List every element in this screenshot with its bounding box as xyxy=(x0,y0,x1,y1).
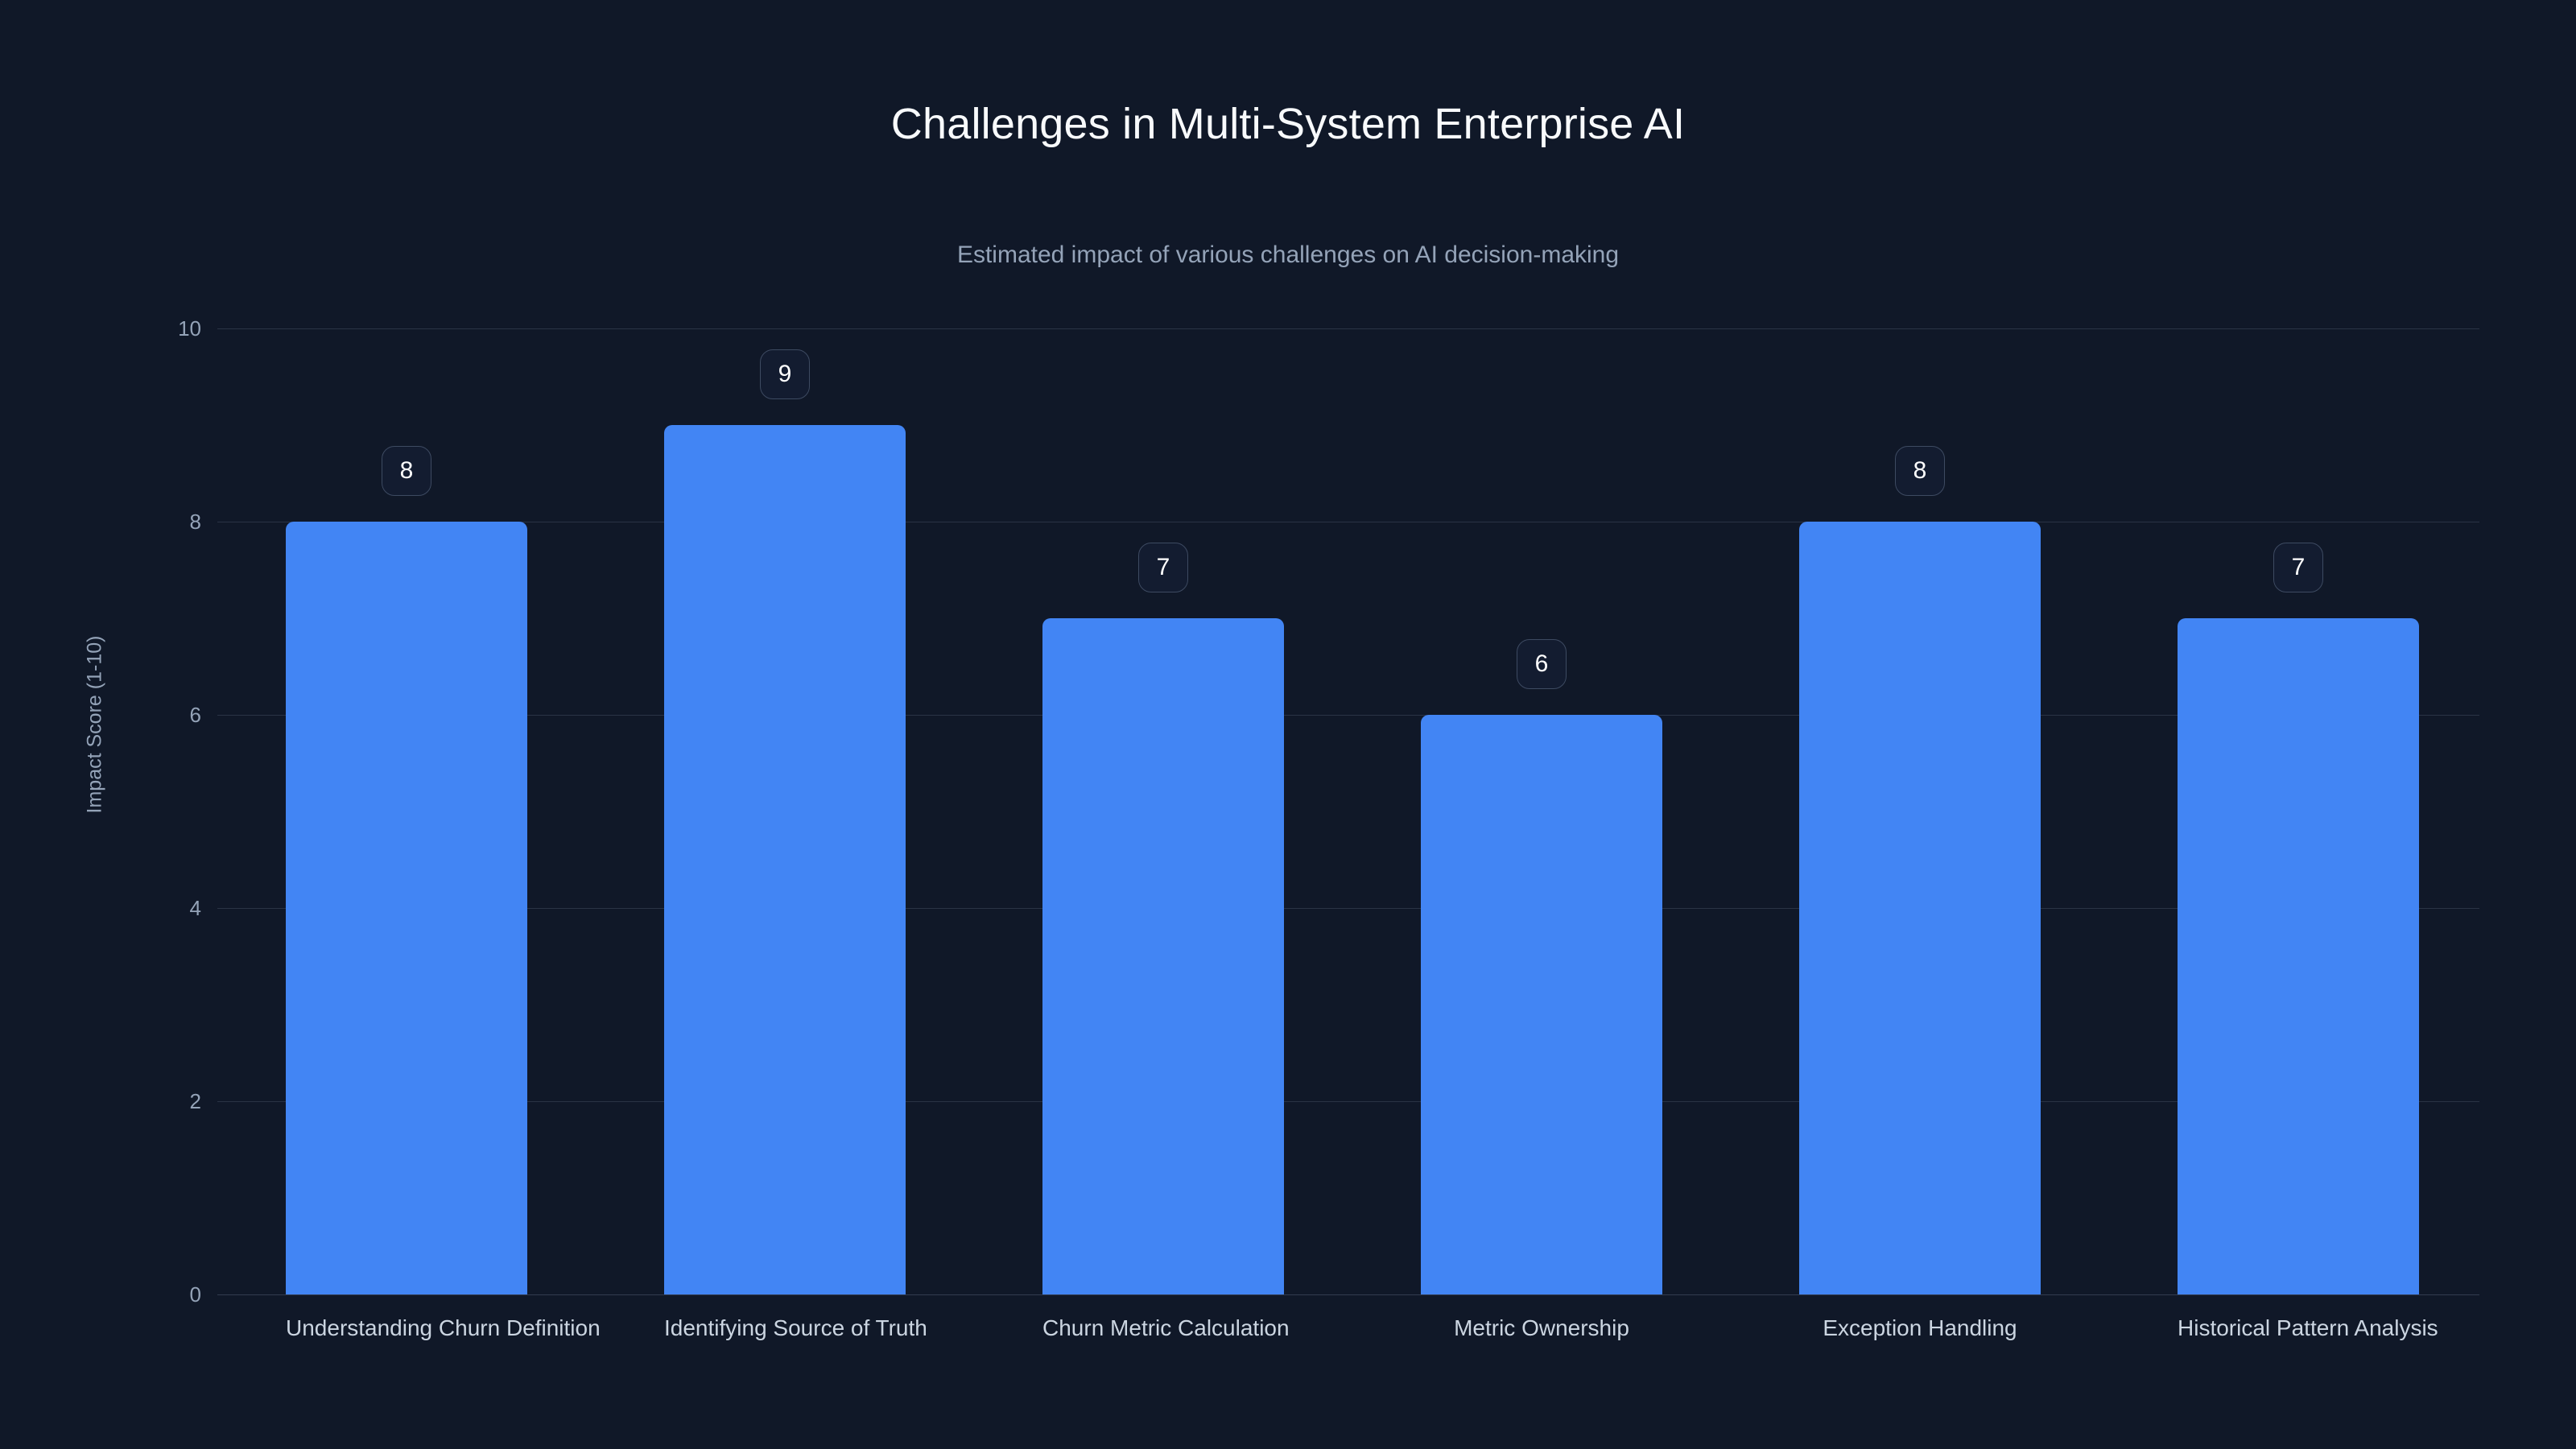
bar-value-label: 6 xyxy=(1517,639,1567,689)
gridline xyxy=(217,715,2479,716)
x-tick-label: Understanding Churn Definition xyxy=(286,1316,527,1341)
y-tick-label: 10 xyxy=(129,318,201,339)
bar[interactable] xyxy=(664,425,906,1294)
gridline xyxy=(217,328,2479,329)
y-axis-title: Impact Score (1-10) xyxy=(84,636,107,814)
bar[interactable] xyxy=(2178,618,2419,1294)
gridline xyxy=(217,1294,2479,1295)
bar[interactable] xyxy=(1042,618,1284,1294)
x-tick-label: Exception Handling xyxy=(1799,1316,2041,1341)
x-tick-label: Metric Ownership xyxy=(1421,1316,1662,1341)
y-tick-label: 4 xyxy=(129,898,201,919)
bar[interactable] xyxy=(1421,715,1662,1294)
x-tick-label: Churn Metric Calculation xyxy=(1042,1316,1284,1341)
bar-value-label: 7 xyxy=(2273,543,2323,592)
bar[interactable] xyxy=(286,522,527,1294)
x-tick-label: Identifying Source of Truth xyxy=(664,1316,906,1341)
chart-title: Challenges in Multi-System Enterprise AI xyxy=(0,101,2576,148)
gridline xyxy=(217,1101,2479,1102)
bar[interactable] xyxy=(1799,522,2041,1294)
bar-value-label: 8 xyxy=(1895,446,1945,496)
bar-value-label: 9 xyxy=(760,349,810,399)
x-tick-label: Historical Pattern Analysis xyxy=(2178,1316,2419,1341)
gridline xyxy=(217,522,2479,522)
y-tick-label: 6 xyxy=(129,704,201,725)
y-tick-label: 0 xyxy=(129,1284,201,1305)
chart-subtitle: Estimated impact of various challenges o… xyxy=(0,242,2576,268)
y-tick-label: 2 xyxy=(129,1091,201,1112)
bar-chart: Challenges in Multi-System Enterprise AI… xyxy=(0,0,2576,1449)
plot-area: 897687 xyxy=(217,328,2479,1294)
y-tick-label: 8 xyxy=(129,511,201,532)
gridline xyxy=(217,908,2479,909)
bar-value-label: 7 xyxy=(1138,543,1188,592)
bar-value-label: 8 xyxy=(382,446,431,496)
